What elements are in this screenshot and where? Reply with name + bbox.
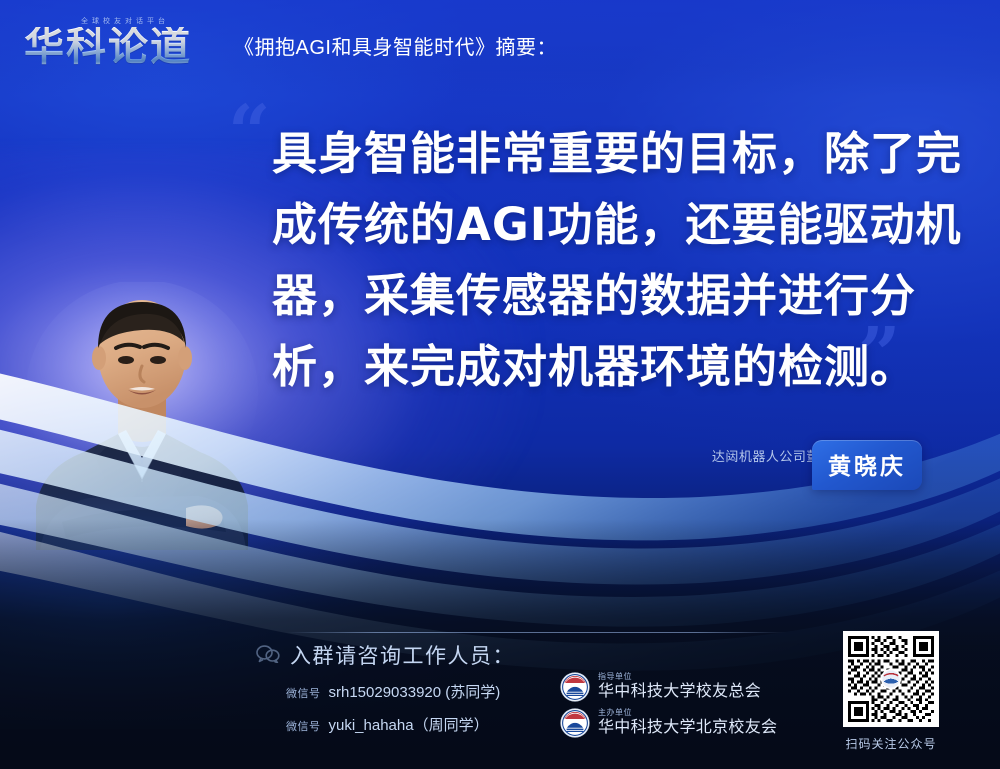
organization-name: 华中科技大学校友总会 (598, 684, 761, 701)
contact-label: 微信号 (286, 688, 321, 700)
wechat-icon (256, 645, 280, 663)
organization-name: 华中科技大学北京校友会 (598, 720, 777, 737)
footer-divider (286, 632, 786, 633)
qr-section: 扫码关注公众号 (843, 631, 939, 752)
contact-row: 微信号yuki_hahaha（周同学） (286, 714, 489, 735)
brand-logo[interactable]: 全球校友对话平台 华科论道 (24, 16, 220, 67)
quote-line: 具身智能非常重要的目标，除了完 (272, 118, 940, 189)
footer-title: 入群请咨询工作人员： (290, 640, 515, 670)
organization-kind: 主办单位 (598, 709, 777, 717)
contact-label: 微信号 (286, 721, 321, 733)
qr-code-icon[interactable] (843, 631, 939, 727)
quote-open-mark: “ (228, 96, 271, 170)
qr-caption: 扫码关注公众号 (843, 735, 939, 752)
quote-text: 具身智能非常重要的目标，除了完 成传统的AGI功能，还要能驱动机 器，采集传感器… (272, 118, 940, 402)
contact-value: yuki_hahaha（周同学） (329, 717, 489, 734)
speaker-name-badge: 黄晓庆 (812, 440, 922, 490)
speaker-name: 黄晓庆 (828, 453, 906, 479)
organization-row: 主办单位 华中科技大学北京校友会 (560, 708, 777, 738)
contact-value: srh15029033920 (苏同学) (329, 684, 501, 701)
quote-line: 析，来完成对机器环境的检测。 (272, 331, 940, 402)
organization-row: 指导单位 华中科技大学校友总会 (560, 672, 761, 702)
organization-kind: 指导单位 (598, 673, 761, 681)
hust-seal-icon (560, 708, 590, 738)
logo-tagline: 全球校友对话平台 (30, 16, 220, 26)
contact-row: 微信号srh15029033920 (苏同学) (286, 681, 500, 702)
header: 全球校友对话平台 华科论道 《拥抱AGI和具身智能时代》摘要： (24, 16, 557, 67)
poster-root: 全球校友对话平台 华科论道 《拥抱AGI和具身智能时代》摘要： “ ” 具身智能… (0, 0, 1000, 769)
page-title: 《拥抱AGI和具身智能时代》摘要： (234, 31, 557, 67)
logo-title: 华科论道 (24, 27, 220, 67)
quote-line: 器，采集传感器的数据并进行分 (272, 260, 940, 331)
quote-line: 成传统的AGI功能，还要能驱动机 (272, 189, 940, 260)
hust-seal-icon (560, 672, 590, 702)
